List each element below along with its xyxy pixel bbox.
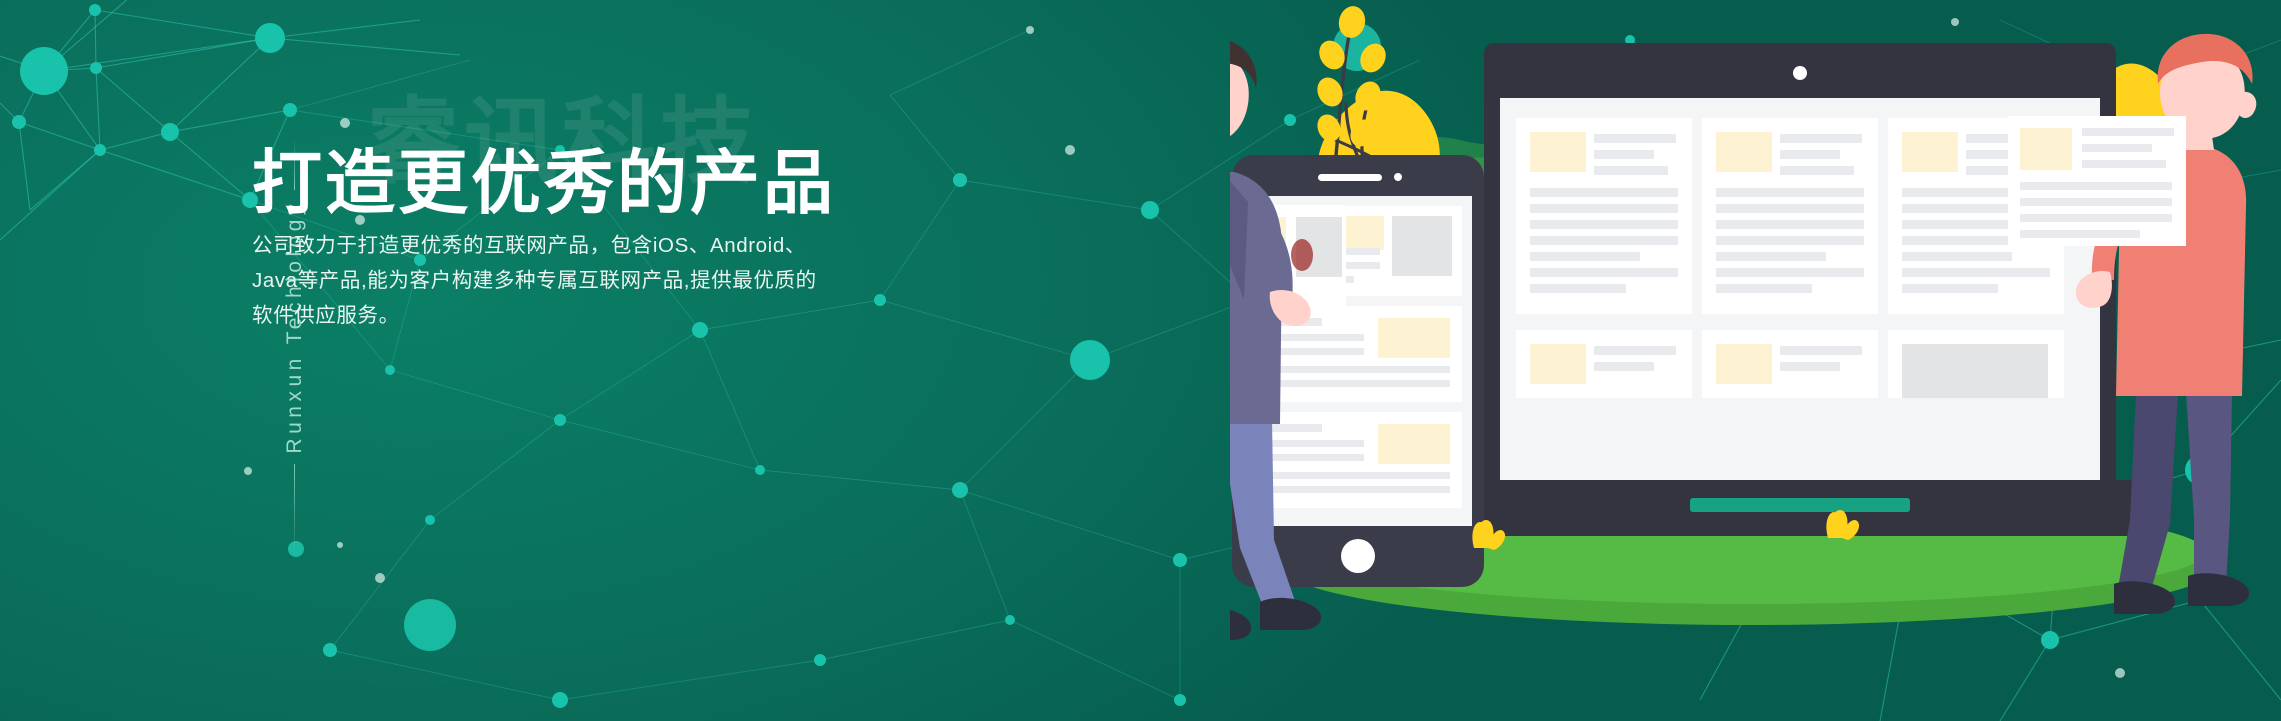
article-card [1702, 118, 1878, 314]
hero-description: 公司致力于打造更优秀的互联网产品，包含iOS、Android、Java等产品,能… [252, 228, 822, 333]
laptop-camera [1793, 66, 1807, 80]
floating-document-right [2008, 116, 2186, 246]
tablet-home-button [1341, 539, 1375, 573]
hero-copy: Runxun Techlology 睿讯科技 打造更优秀的产品 公司致力于打造更… [0, 0, 1100, 721]
tablet-list-item [1254, 412, 1462, 508]
tablet-camera [1394, 173, 1402, 181]
page-title: 打造更优秀的产品 [252, 140, 836, 228]
tablet-speaker [1318, 174, 1382, 181]
vertical-rule-bottom [294, 464, 295, 556]
article-card [1516, 118, 1692, 314]
hero-banner: .ln { stroke:#2ec4ad; stroke-width:1.1; … [0, 0, 2281, 721]
people-with-devices-illustration [1230, 0, 2281, 721]
